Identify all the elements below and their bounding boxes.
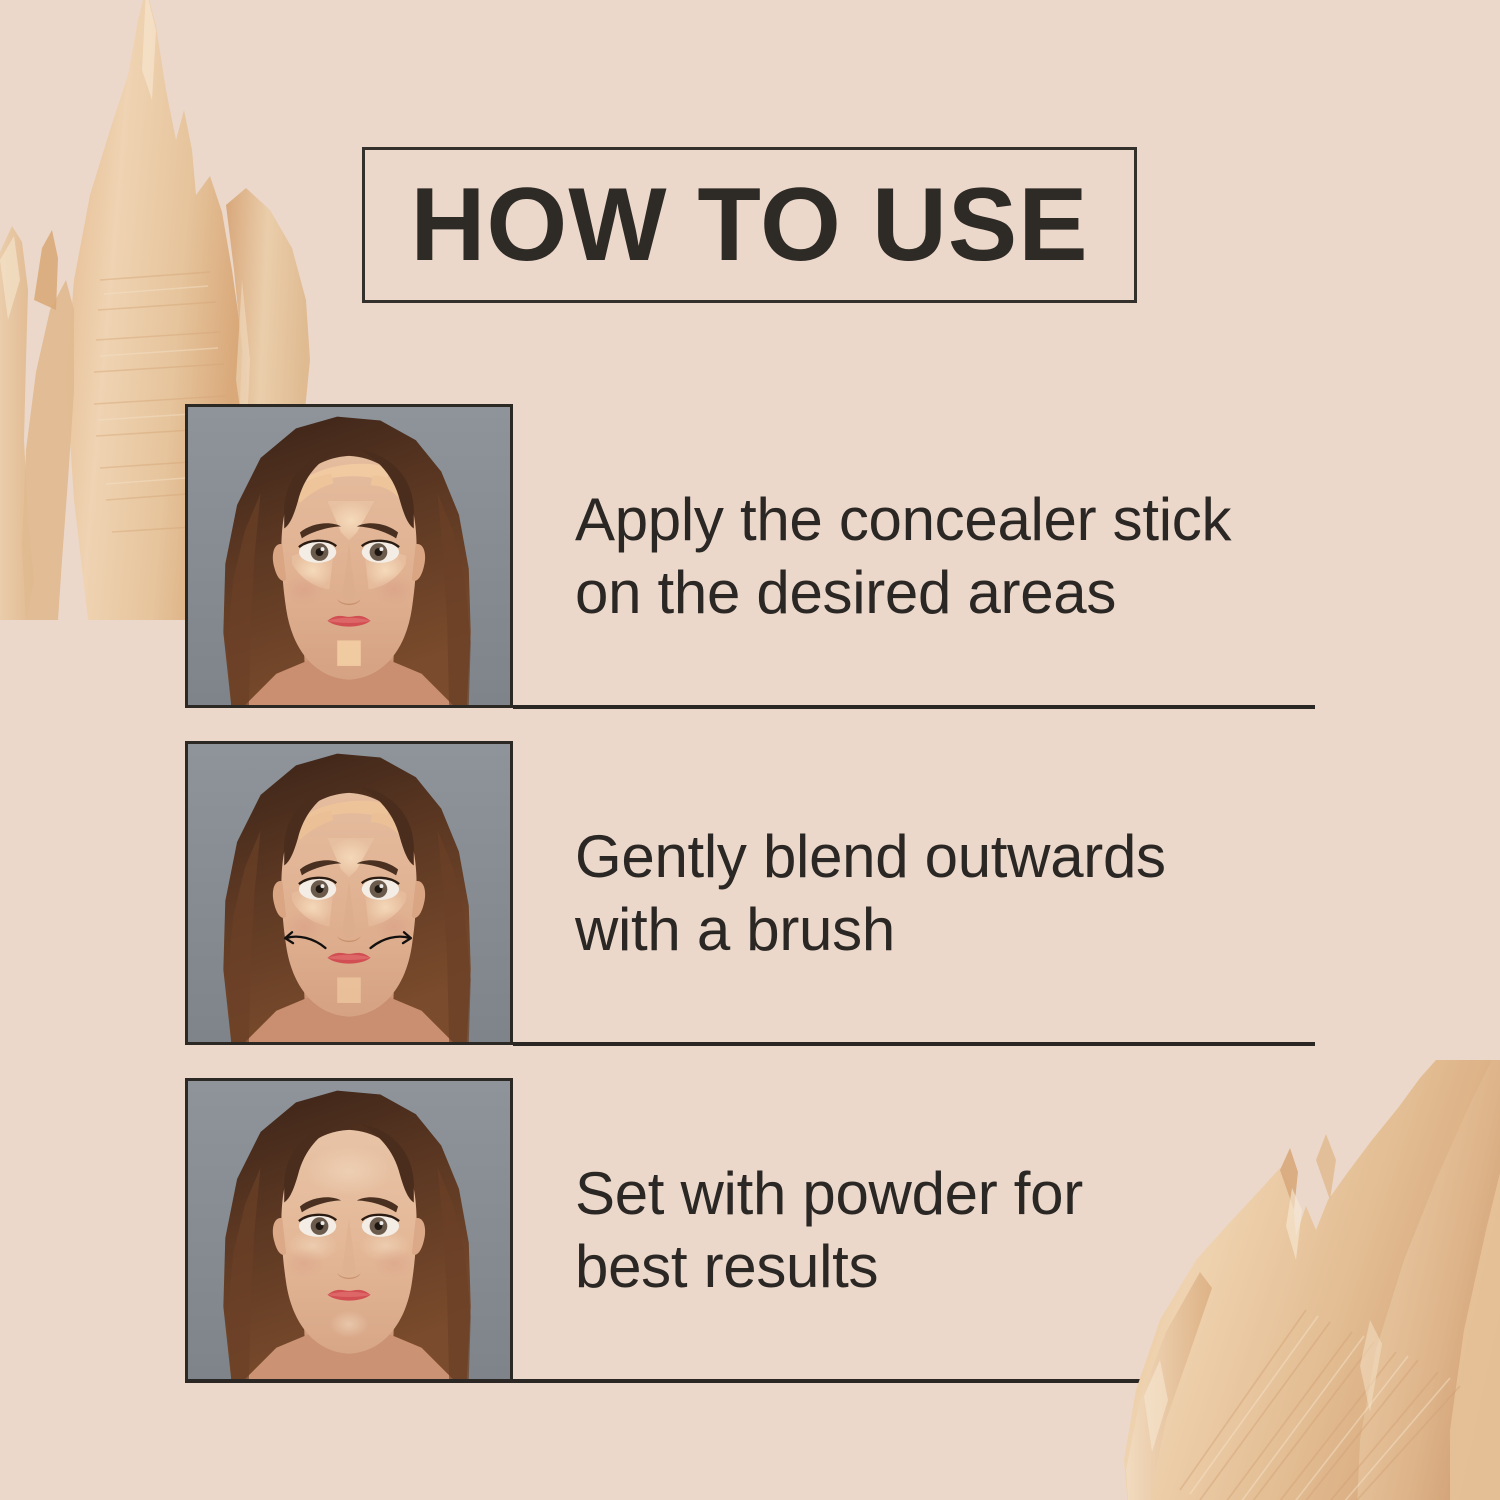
page-title-box: HOW TO USE [362,147,1137,303]
model-face-blending-arrows [185,741,513,1045]
step-text: Set with powder for best results [575,1157,1083,1303]
model-face-finished-look [185,1078,513,1382]
step-divider [185,1379,1313,1383]
step-text: Apply the concealer stick on the desired… [575,483,1231,629]
step-row: Gently blend outwards with a brush [185,741,1315,1045]
step-divider [513,705,1315,709]
page-title: HOW TO USE [410,173,1088,277]
how-to-use-infographic: HOW TO USE [0,0,1500,1500]
step-text: Gently blend outwards with a brush [575,820,1166,966]
model-face-concealer-applied [185,404,513,708]
step-row: Set with powder for best results [185,1078,1315,1382]
step-row: Apply the concealer stick on the desired… [185,404,1315,708]
step-divider [513,1042,1315,1046]
